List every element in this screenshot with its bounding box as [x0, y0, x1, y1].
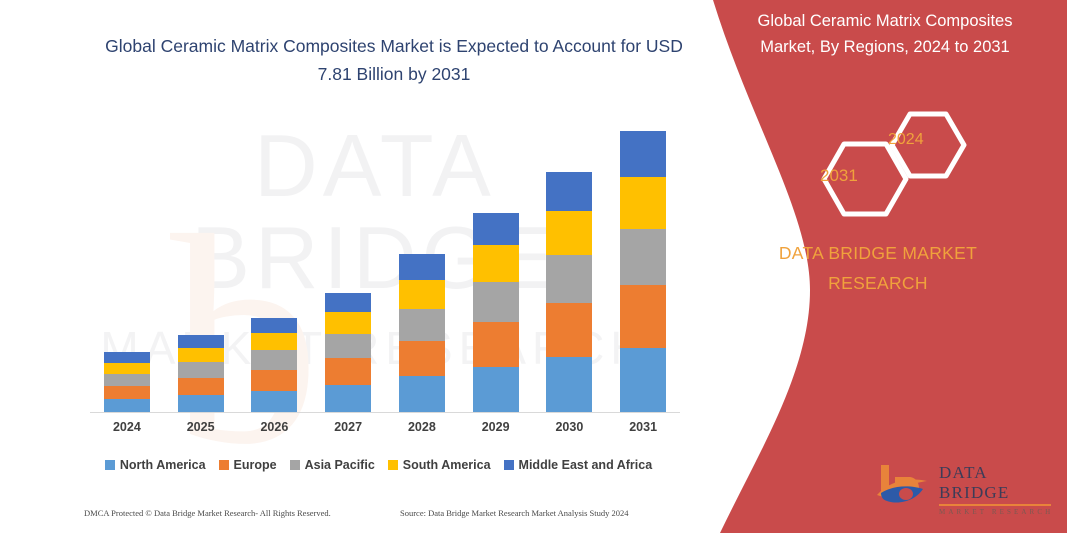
legend-swatch	[219, 460, 229, 470]
logo-main-text: DATA BRIDGE	[939, 463, 1055, 503]
bar-segment[interactable]	[620, 177, 666, 229]
bar-group[interactable]	[251, 318, 297, 413]
bar-segment[interactable]	[104, 386, 150, 399]
bar-group[interactable]	[546, 172, 592, 413]
bar-segment[interactable]	[178, 335, 224, 348]
legend-swatch	[388, 460, 398, 470]
legend-label: South America	[403, 458, 491, 472]
legend-label: Europe	[234, 458, 277, 472]
bar-segment[interactable]	[399, 254, 445, 279]
bar-segment[interactable]	[251, 333, 297, 351]
legend-item[interactable]: Middle East and Africa	[504, 458, 653, 472]
x-axis-label: 2026	[237, 420, 311, 434]
bar-group[interactable]	[473, 213, 519, 413]
legend-label: North America	[120, 458, 206, 472]
x-axis-label: 2028	[385, 420, 459, 434]
x-axis-label: 2031	[606, 420, 680, 434]
bar-group[interactable]	[325, 293, 371, 413]
x-axis-label: 2025	[164, 420, 238, 434]
panel-brand-text: DATA BRIDGE MARKET RESEARCH	[728, 238, 1028, 298]
x-axis-label: 2029	[459, 420, 533, 434]
bar-segment[interactable]	[473, 282, 519, 322]
bar-segment[interactable]	[178, 348, 224, 362]
bar-segment[interactable]	[104, 352, 150, 363]
footer-copyright: DMCA Protected © Data Bridge Market Rese…	[84, 508, 331, 518]
infographic-canvas: b DATA BRIDGE MARKET RESEARCH Global Cer…	[0, 0, 1067, 533]
logo-text-block: DATA BRIDGE MARKET RESEARCH	[939, 463, 1055, 516]
chart-legend: North AmericaEuropeAsia PacificSouth Ame…	[90, 455, 680, 475]
bar-segment[interactable]	[104, 363, 150, 374]
bar-segment[interactable]	[325, 312, 371, 334]
bar-segment[interactable]	[546, 255, 592, 303]
bar-segment[interactable]	[620, 131, 666, 177]
bar-segment[interactable]	[325, 385, 371, 413]
bar-segment[interactable]	[104, 374, 150, 386]
bar-segment[interactable]	[325, 293, 371, 312]
bar-segment[interactable]	[546, 357, 592, 413]
footer: DMCA Protected © Data Bridge Market Rese…	[0, 508, 700, 524]
bar-segment[interactable]	[546, 172, 592, 211]
bar-segment[interactable]	[251, 370, 297, 391]
data-bridge-logo: DATA BRIDGE MARKET RESEARCH	[875, 455, 1055, 515]
legend-label: Asia Pacific	[305, 458, 375, 472]
bar-segment[interactable]	[473, 322, 519, 366]
legend-item[interactable]: Asia Pacific	[290, 458, 375, 472]
bar-segment[interactable]	[473, 213, 519, 245]
panel-title: Global Ceramic Matrix Composites Market,…	[735, 8, 1035, 60]
chart-title: Global Ceramic Matrix Composites Market …	[88, 32, 700, 88]
bar-segment[interactable]	[399, 376, 445, 413]
bar-group[interactable]	[178, 335, 224, 413]
data-bridge-mark-icon	[875, 455, 937, 507]
bar-segment[interactable]	[251, 350, 297, 369]
bar-segment[interactable]	[620, 285, 666, 348]
x-axis-labels: 20242025202620272028202920302031	[90, 420, 680, 442]
legend-swatch	[105, 460, 115, 470]
bar-segment[interactable]	[325, 358, 371, 385]
bar-segment[interactable]	[399, 309, 445, 341]
bar-segment[interactable]	[546, 303, 592, 357]
legend-label: Middle East and Africa	[519, 458, 653, 472]
right-red-panel: Global Ceramic Matrix Composites Market,…	[690, 0, 1067, 533]
x-axis-label: 2024	[90, 420, 164, 434]
bar-chart-plot	[90, 120, 680, 413]
x-axis-line	[90, 412, 680, 413]
legend-swatch	[290, 460, 300, 470]
legend-item[interactable]: North America	[105, 458, 206, 472]
bar-segment[interactable]	[251, 391, 297, 413]
x-axis-label: 2030	[532, 420, 606, 434]
bar-segment[interactable]	[399, 341, 445, 376]
bar-group[interactable]	[620, 131, 666, 413]
legend-swatch	[504, 460, 514, 470]
bar-group[interactable]	[399, 254, 445, 413]
bar-segment[interactable]	[473, 245, 519, 282]
bar-segment[interactable]	[620, 229, 666, 285]
bar-segment[interactable]	[178, 378, 224, 395]
x-axis-label: 2027	[311, 420, 385, 434]
legend-item[interactable]: Europe	[219, 458, 277, 472]
legend-item[interactable]: South America	[388, 458, 491, 472]
bar-segment[interactable]	[325, 334, 371, 358]
logo-divider	[939, 504, 1051, 506]
bar-segment[interactable]	[251, 318, 297, 333]
bar-segment[interactable]	[178, 395, 224, 413]
bar-segment[interactable]	[546, 211, 592, 255]
bar-segment[interactable]	[178, 362, 224, 378]
bar-group[interactable]	[104, 352, 150, 413]
bar-segment[interactable]	[473, 367, 519, 413]
bar-segment[interactable]	[399, 280, 445, 309]
logo-sub-text: MARKET RESEARCH	[939, 508, 1055, 516]
bar-segment[interactable]	[104, 399, 150, 413]
footer-source: Source: Data Bridge Market Research Mark…	[400, 508, 629, 518]
bar-segment[interactable]	[620, 348, 666, 413]
